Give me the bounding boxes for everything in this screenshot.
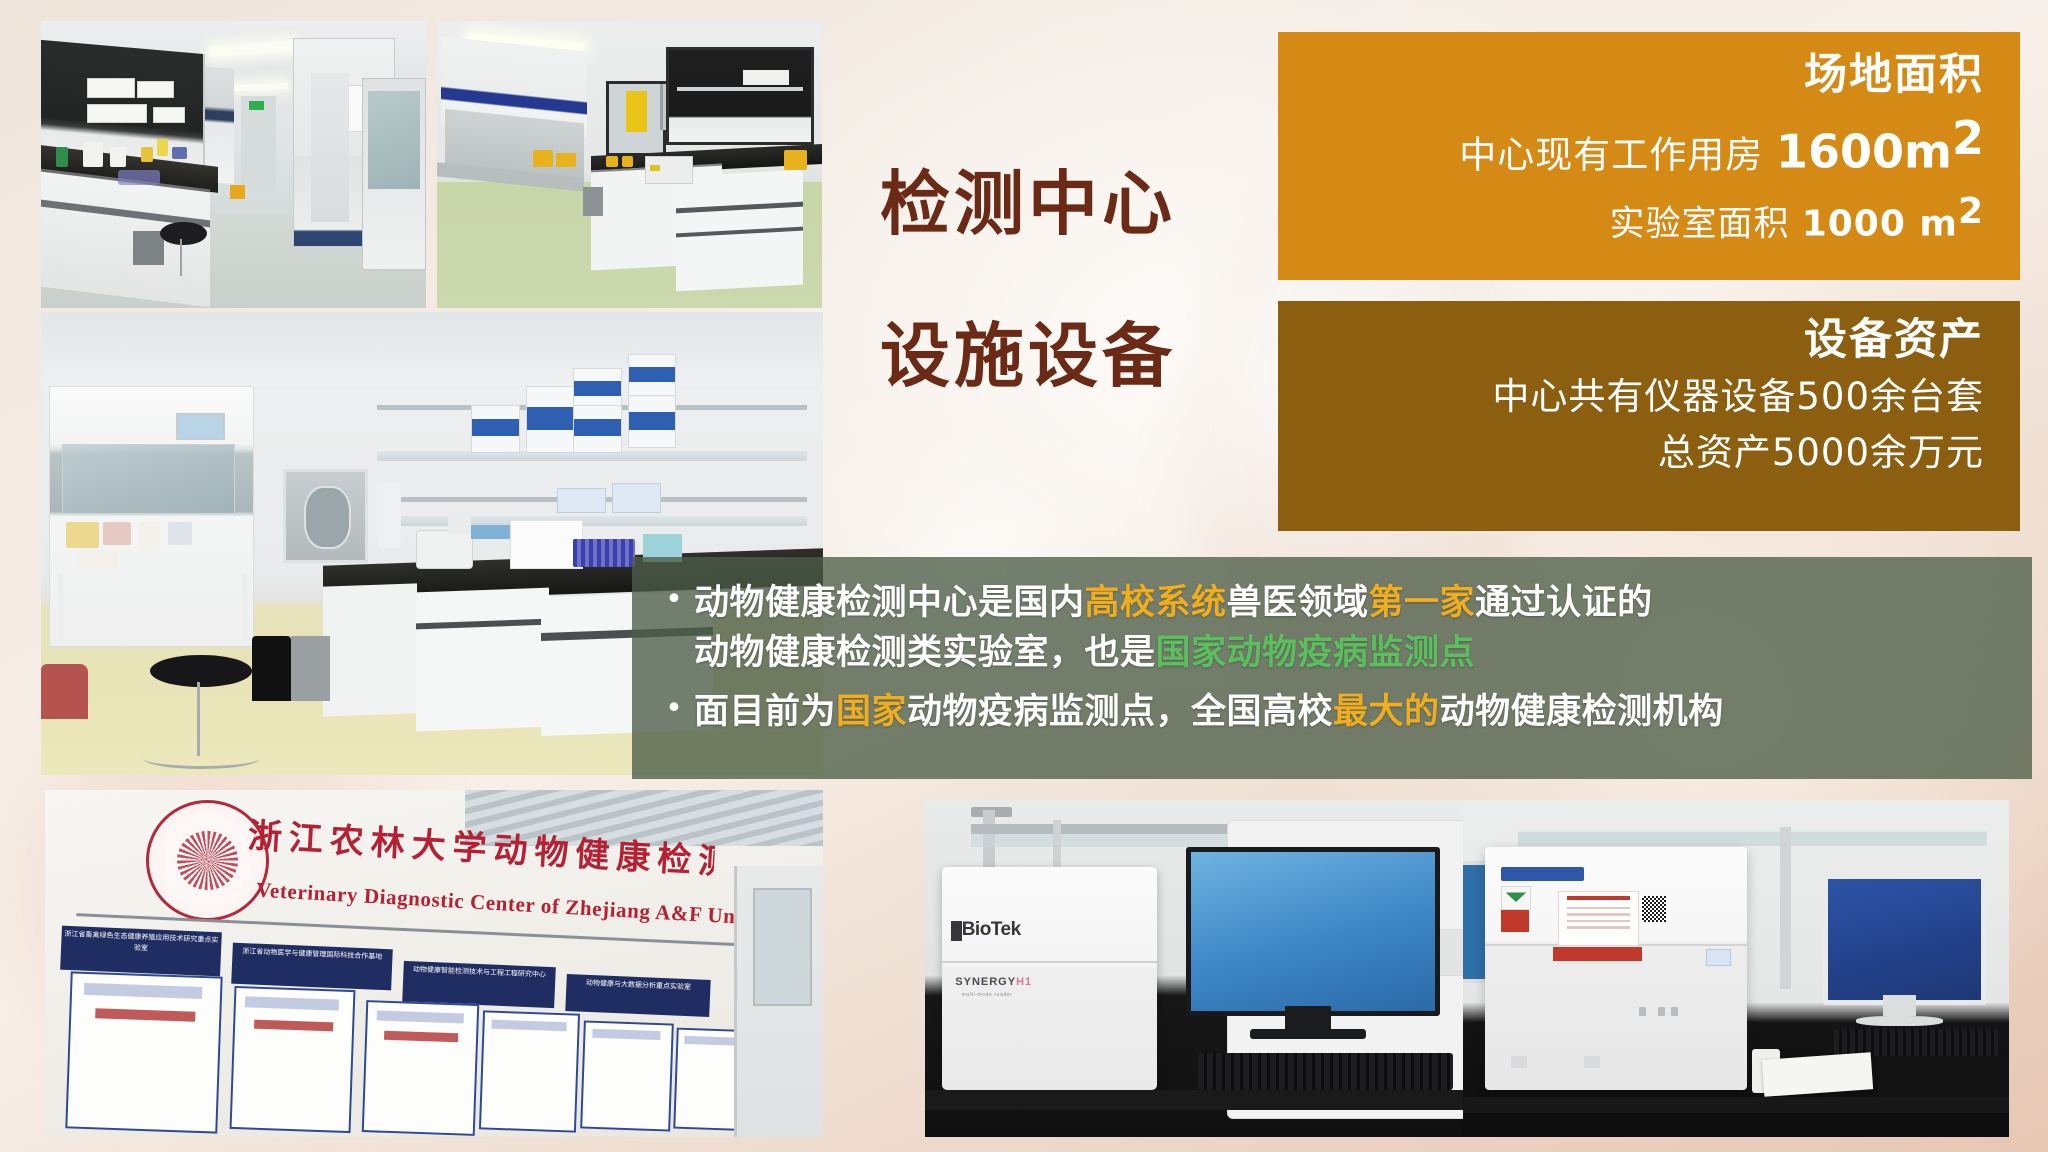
info-box-site-area: 场地面积 中心现有工作用房 1600m2 实验室面积 1000 m2 <box>1278 32 2020 280</box>
info-line-value: 1000 m <box>1802 204 1958 245</box>
info-box-line: 实验室面积 1000 m2 <box>1302 186 1984 251</box>
info-line-text: 中心现有工作用房 <box>1459 133 1776 176</box>
bullet-segment: 动物健康检测机构 <box>1440 692 1724 732</box>
info-line-sup: 2 <box>1958 191 1984 232</box>
photo-biotek-reader: BioTek SYNERGYH1 multi-mode reader <box>925 800 1505 1137</box>
bullet-text: 动物健康检测中心是国内高校系统兽医领域第一家通过认证的动物健康检测类实验室，也是… <box>694 579 1653 678</box>
bullet-overlay-panel: • 动物健康检测中心是国内高校系统兽医领域第一家通过认证的动物健康检测类实验室，… <box>632 557 2032 779</box>
info-box-line: 中心现有工作用房 1600m2 <box>1302 104 1984 186</box>
bullet-segment: 动物疫病监测点，全国高校 <box>907 692 1333 732</box>
photo-lightcycler-pcr <box>1463 800 2009 1137</box>
slide: 浙江农林大学动物健康检测中心 Veterinary Diagnostic Cen… <box>0 0 2048 1152</box>
bullet-segment: 通过认证的 <box>1475 583 1653 623</box>
bullet-segment-highlight: 高校系统 <box>1085 583 1227 623</box>
photo-certificate-wall: 浙江农林大学动物健康检测中心 Veterinary Diagnostic Cen… <box>45 790 823 1137</box>
bullet-marker: • <box>654 579 694 622</box>
photo-lab-green-floor <box>437 21 822 308</box>
info-box-heading: 场地面积 <box>1302 46 1984 104</box>
page-title-line-1: 检测中心 <box>880 148 1176 249</box>
bullet-segment-highlight: 最大的 <box>1333 692 1440 732</box>
bullet-segment-highlight: 国家 <box>836 692 907 732</box>
info-line-text: 实验室面积 <box>1610 205 1802 245</box>
info-line-value: 1600m <box>1776 124 1952 178</box>
instrument-model-suffix: H1 <box>1016 976 1032 988</box>
bullet-segment-highlight: 第一家 <box>1369 583 1476 623</box>
bullet-segment: 兽医领域 <box>1227 583 1369 623</box>
instrument-model-label: SYNERGY <box>955 976 1016 988</box>
wall-plate: 动物健康智能检测技术与工程工程研究中心 <box>402 960 555 1007</box>
bullet-item: • 面目前为国家动物疫病监测点，全国高校最大的动物健康检测机构 <box>654 688 2002 738</box>
wall-plate: 浙江省畜禽绿色生态健康养殖应用技术研究重点实验室 <box>60 925 221 976</box>
info-box-equipment-assets: 设备资产 中心共有仪器设备500余台套 总资产5000余万元 <box>1278 301 2020 531</box>
bullet-segment: 动物健康检测类实验室，也是 <box>694 633 1156 673</box>
info-box-line: 中心共有仪器设备500余台套 <box>1302 369 1984 425</box>
wall-plate: 浙江省动物医学与健康管理国际科技合作基地 <box>231 943 392 990</box>
instrument-model-sub: multi-mode reader <box>962 992 1013 998</box>
info-line-sup: 2 <box>1952 111 1984 165</box>
biotek-logo-dots <box>951 921 962 941</box>
bullet-text: 面目前为国家动物疫病监测点，全国高校最大的动物健康检测机构 <box>694 688 1724 738</box>
instrument-brand-label: BioTek <box>962 919 1021 941</box>
photo-lab-corridor <box>41 21 426 308</box>
bullet-item: • 动物健康检测中心是国内高校系统兽医领域第一家通过认证的动物健康检测类实验室，… <box>654 579 2002 678</box>
info-box-line: 总资产5000余万元 <box>1302 425 1984 481</box>
wall-plate: 动物健康与大数据分析重点实验室 <box>566 974 711 1017</box>
bullet-marker: • <box>654 688 694 731</box>
page-title-line-2: 设施设备 <box>880 300 1176 401</box>
info-box-heading: 设备资产 <box>1302 311 1984 369</box>
bullet-segment: 面目前为 <box>694 692 836 732</box>
bullet-segment-highlight: 国家动物疫病监测点 <box>1156 633 1476 673</box>
bullet-segment: 动物健康检测中心是国内 <box>694 583 1085 623</box>
